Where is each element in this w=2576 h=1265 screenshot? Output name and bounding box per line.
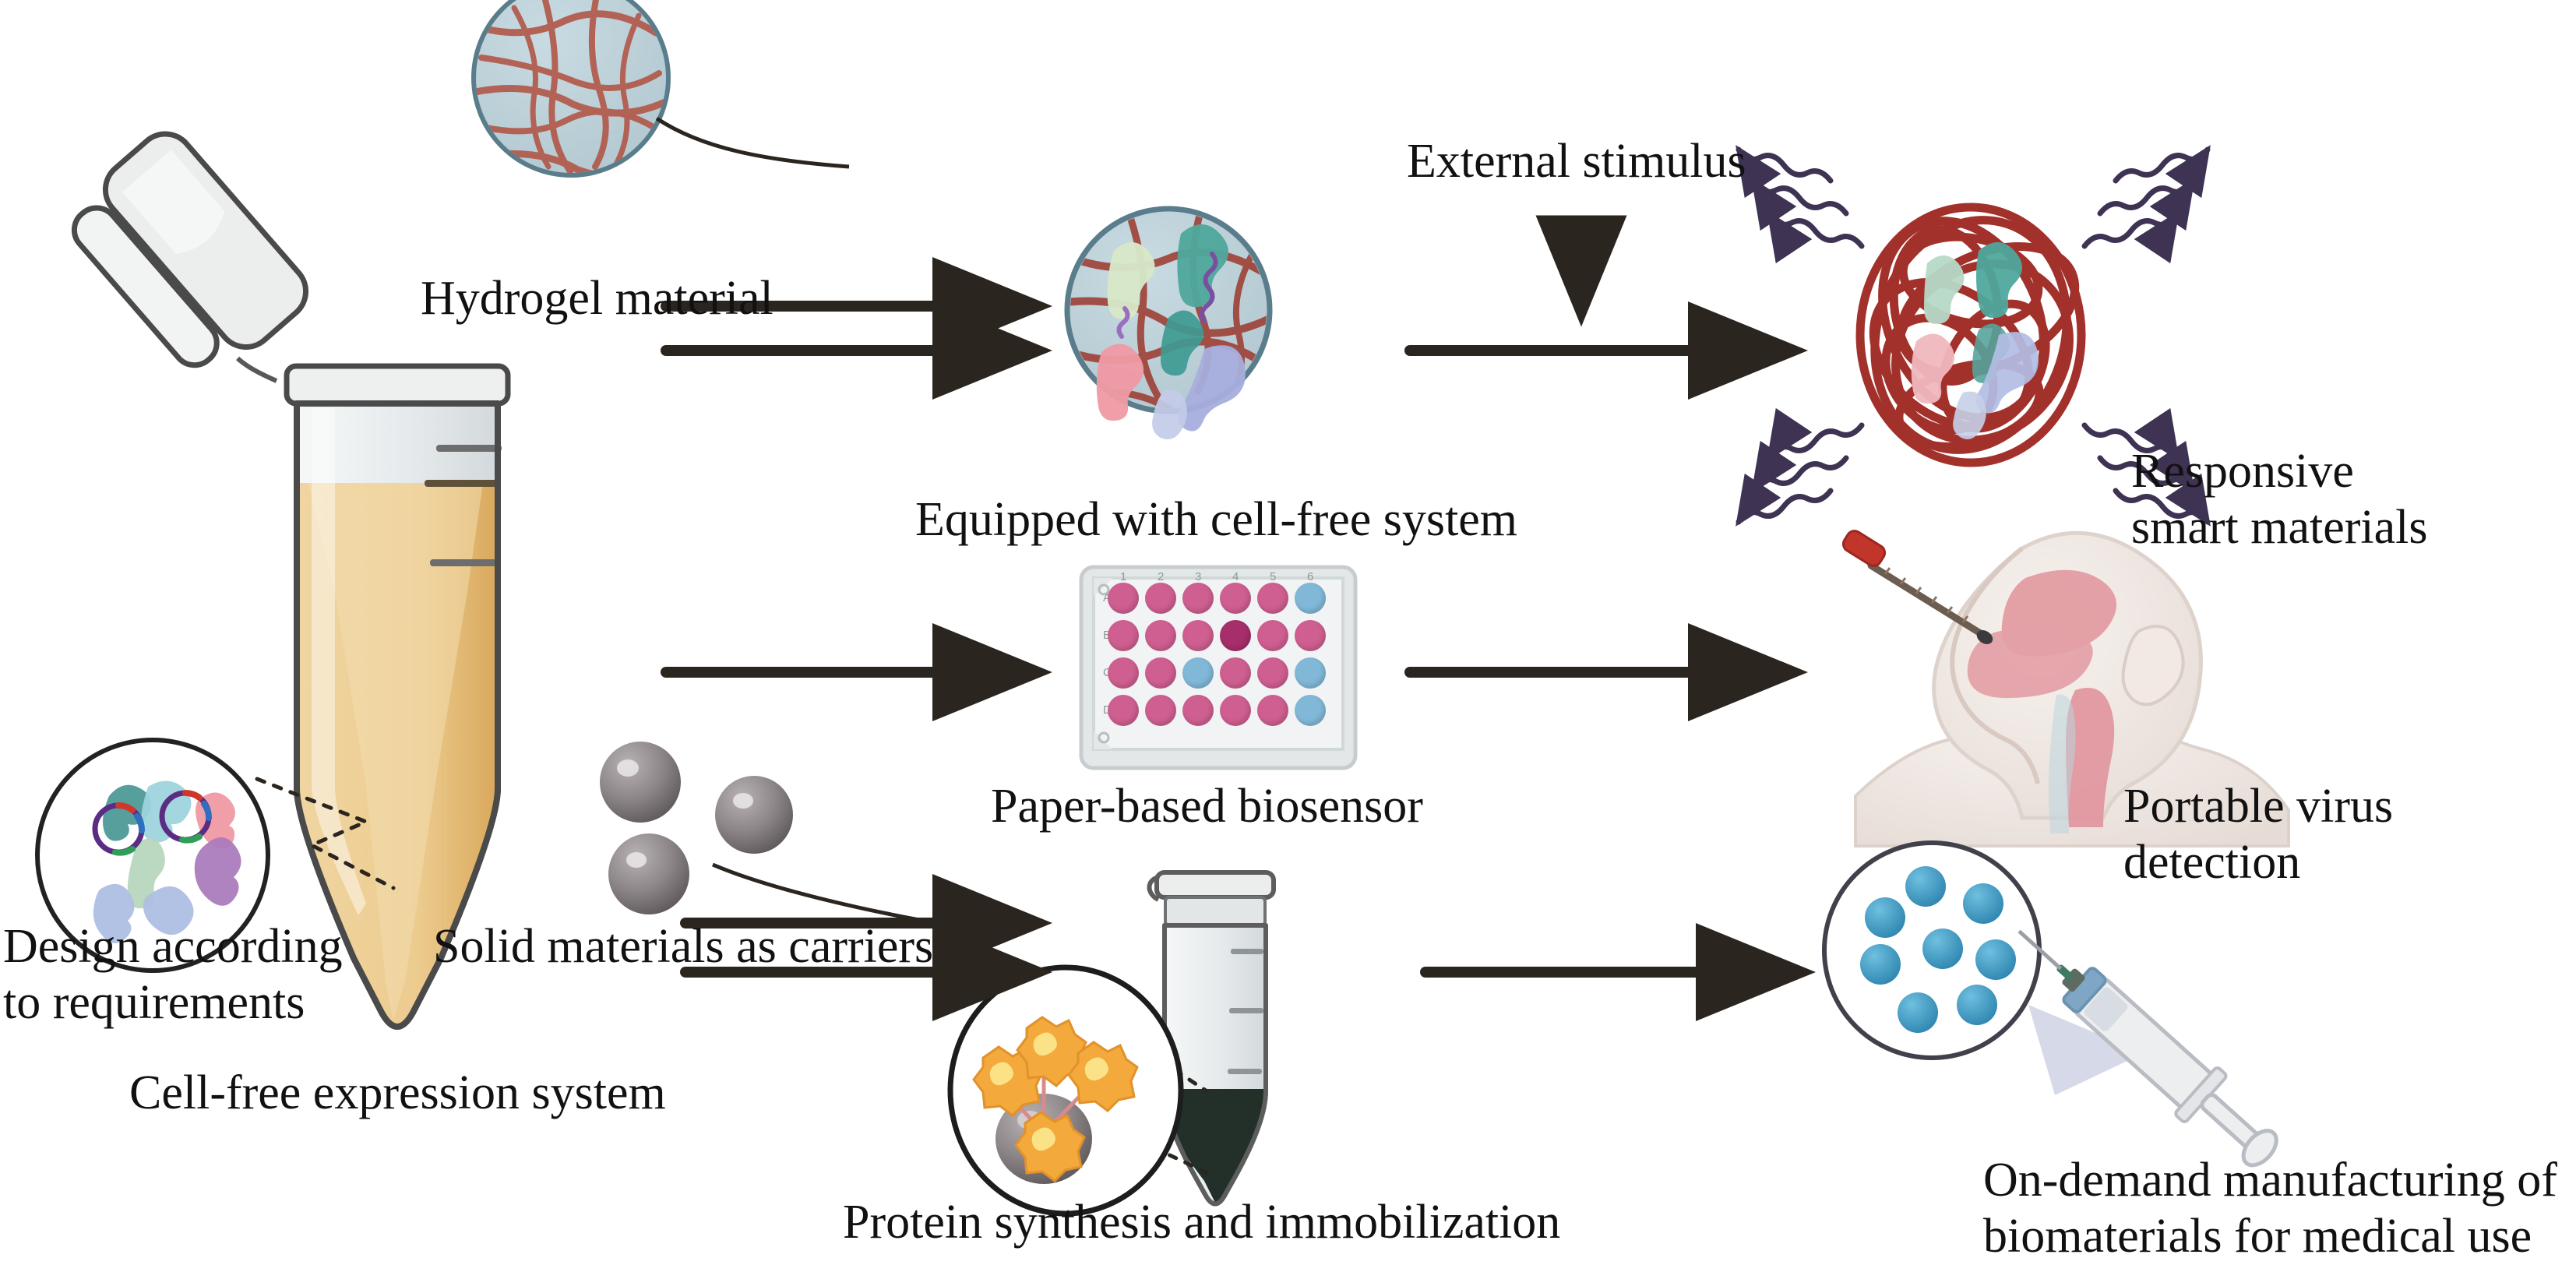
label-protein-synthesis-and-immobilization: Protein synthesis and immobilization — [843, 1195, 1560, 1251]
microplate-well[interactable] — [1182, 695, 1214, 726]
label-external-stimulus: External stimulus — [1407, 134, 1746, 190]
hydrogel-fiber-circle-icon — [474, 0, 668, 177]
label-design-according-to-requirements: Design according to requirements — [3, 919, 343, 1031]
figure-canvas: Hydrogel material Equipped with cell-fre… — [0, 0, 2576, 1265]
label-paper-based-biosensor: Paper-based biosensor — [991, 779, 1423, 835]
solid-carrier-beads-icon — [600, 742, 793, 914]
microplate-well[interactable] — [1220, 657, 1251, 689]
microplate-well[interactable] — [1220, 583, 1251, 614]
leader-line-icon — [657, 118, 849, 167]
microplate-well[interactable] — [1257, 583, 1288, 614]
microplate-well[interactable] — [1145, 620, 1176, 651]
microplate-well[interactable] — [1182, 620, 1214, 651]
label-portable-virus-detection: Portable virus detection — [2123, 779, 2576, 891]
microplate-well[interactable] — [1182, 657, 1214, 689]
microplate-well[interactable] — [1220, 695, 1251, 726]
microplate-well[interactable] — [1295, 657, 1326, 689]
label-cell-free-expression-system: Cell-free expression system — [129, 1066, 666, 1122]
microplate-well[interactable] — [1257, 695, 1288, 726]
loaded-hydrogel-circle-icon — [1066, 209, 1271, 439]
label-on-demand-manufacturing: On-demand manufacturing of biomaterials … — [1983, 1153, 2557, 1265]
microplate-well[interactable] — [1295, 620, 1326, 651]
microplate-well[interactable] — [1108, 695, 1139, 726]
microplate-well[interactable] — [1108, 583, 1139, 614]
microplate-well[interactable] — [1257, 620, 1288, 651]
microplate-well[interactable] — [1145, 657, 1176, 689]
bead-protein-icon — [950, 967, 1181, 1214]
microplate-rows: ABCD — [1081, 567, 1355, 768]
label-equipped-with-cell-free-system: Equipped with cell-free system — [915, 492, 1517, 548]
microplate-well[interactable] — [1108, 620, 1139, 651]
label-responsive-smart-materials: Responsive smart materials — [2131, 444, 2427, 556]
label-hydrogel-material: Hydrogel material — [421, 271, 774, 327]
microplate-well[interactable] — [1145, 695, 1176, 726]
microplate-well[interactable] — [1145, 583, 1176, 614]
label-solid-materials-as-carriers: Solid materials as carriers — [433, 919, 933, 975]
microplate-well[interactable] — [1295, 695, 1326, 726]
microplate-well[interactable] — [1108, 657, 1139, 689]
microplate-well[interactable] — [1220, 620, 1251, 651]
microplate-well[interactable] — [1182, 583, 1214, 614]
microplate-well[interactable] — [1257, 657, 1288, 689]
microplate-grid: 123456 ABCD — [1081, 567, 1355, 768]
microplate-well[interactable] — [1295, 583, 1326, 614]
